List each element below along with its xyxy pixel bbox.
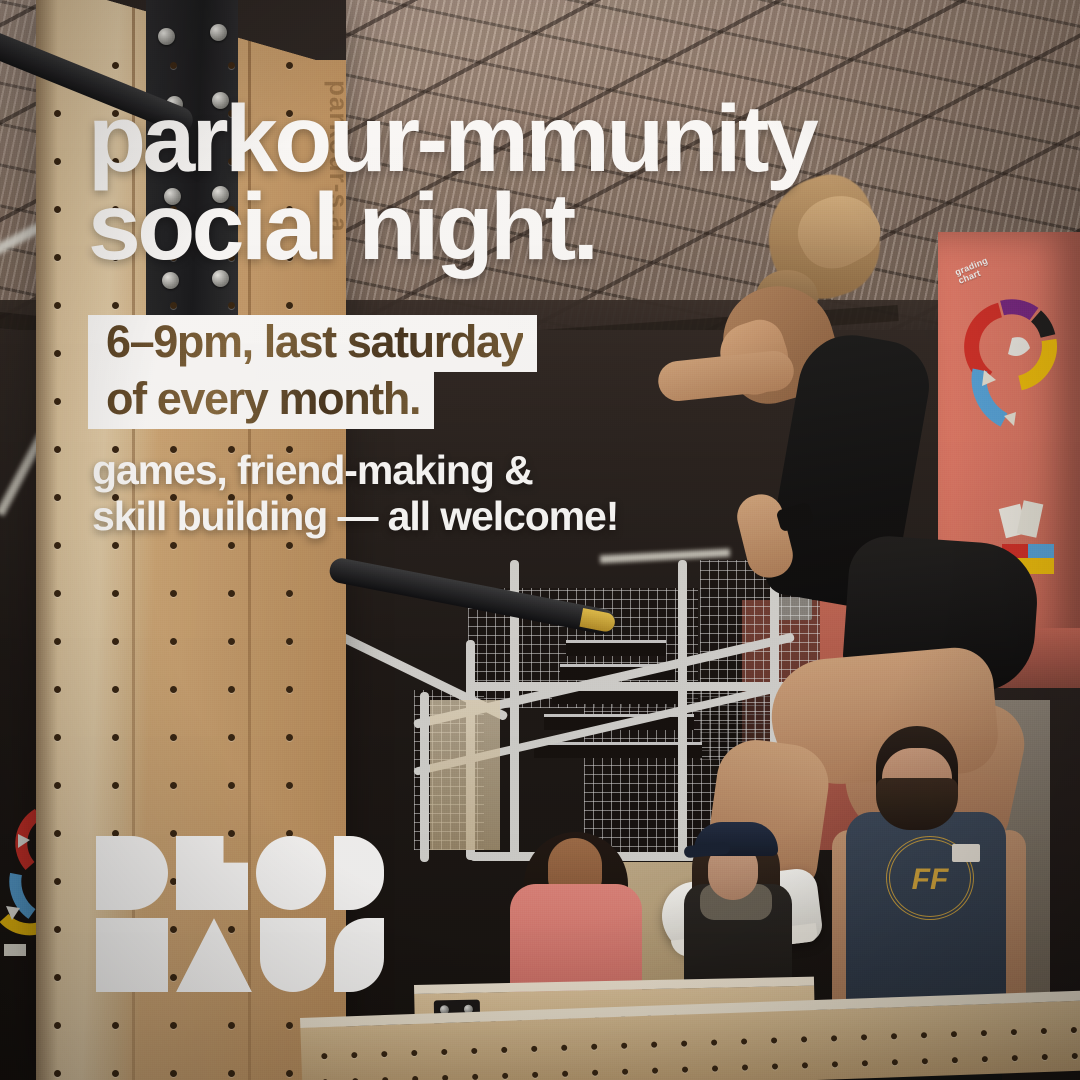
page-title: parkour-mmunity social night.	[88, 95, 988, 272]
logo-letter-h	[96, 918, 168, 992]
logo-letter-s	[334, 918, 384, 992]
logo-row-haus	[96, 918, 384, 992]
date-line-2-box: of every month.	[88, 372, 434, 429]
poster-canvas: grading chart	[0, 0, 1080, 1080]
blochaus-logo[interactable]	[96, 836, 384, 992]
body-copy: games, friend-making & skill building — …	[92, 448, 852, 540]
date-line-1-text: 6–9pm, last saturday	[106, 316, 523, 367]
date-line-2-text: of every month.	[106, 373, 420, 424]
logo-letter-u	[260, 918, 326, 992]
logo-letter-a	[176, 918, 252, 992]
logo-letter-o	[256, 836, 326, 910]
poster-text-layer: parkour-mmunity social night. 6–9pm, las…	[0, 0, 1080, 1080]
headline-line-2: social night.	[88, 183, 988, 271]
date-line-1-box: 6–9pm, last saturday	[88, 315, 537, 372]
logo-letter-l	[176, 836, 248, 910]
body-line-2: skill building — all welcome!	[92, 494, 852, 540]
body-line-1: games, friend-making &	[92, 448, 852, 494]
logo-letter-c	[334, 836, 384, 910]
logo-letter-b	[96, 836, 168, 910]
logo-row-bloc	[96, 836, 384, 910]
